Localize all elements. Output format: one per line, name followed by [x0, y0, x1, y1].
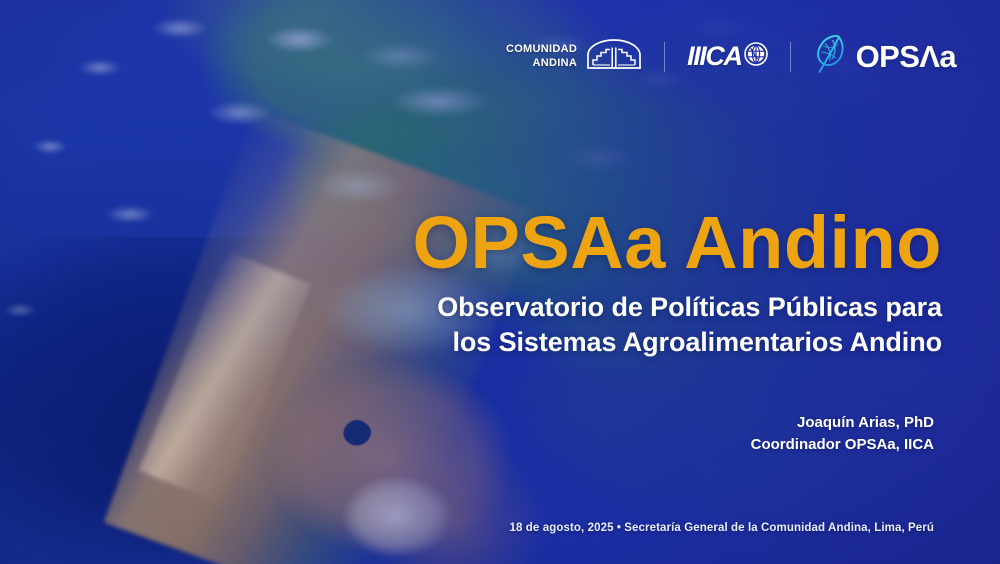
logo-divider-1	[664, 42, 665, 72]
andean-arch-icon	[586, 38, 642, 75]
logo-divider-2	[790, 42, 791, 72]
presenter-name: Joaquín Arias, PhD	[334, 412, 934, 434]
opsaa-wordmark: OPSΛa	[856, 41, 956, 72]
page-subtitle: Observatorio de Políticas Públicas para …	[342, 290, 942, 359]
iica-wordmark: IIICA	[687, 43, 742, 70]
subtitle-line-1: Observatorio de Políticas Públicas para	[342, 290, 942, 325]
title-slide: COMUNIDAD ANDINA IIICA	[0, 0, 1000, 564]
leaf-icon	[813, 32, 847, 81]
subtitle-line-2: los Sistemas Agroalimentarios Andino	[342, 325, 942, 360]
slide-footer: 18 de agosto, 2025 • Secretaría General …	[334, 521, 934, 536]
globe-icon	[744, 42, 768, 71]
slide-content: OPSAa Andino Observatorio de Políticas P…	[342, 0, 942, 564]
comunidad-andina-logo: COMUNIDAD ANDINA	[506, 38, 642, 75]
logo-bar: COMUNIDAD ANDINA IIICA	[506, 32, 956, 81]
presenter-role: Coordinador OPSAa, IICA	[334, 434, 934, 456]
presenter-block: Joaquín Arias, PhD Coordinador OPSAa, II…	[334, 412, 934, 456]
page-title: OPSAa Andino	[342, 206, 942, 280]
comunidad-andina-wordmark: COMUNIDAD ANDINA	[506, 43, 577, 70]
iica-logo: IIICA	[687, 42, 768, 71]
opsaa-logo: OPSΛa	[813, 32, 956, 81]
